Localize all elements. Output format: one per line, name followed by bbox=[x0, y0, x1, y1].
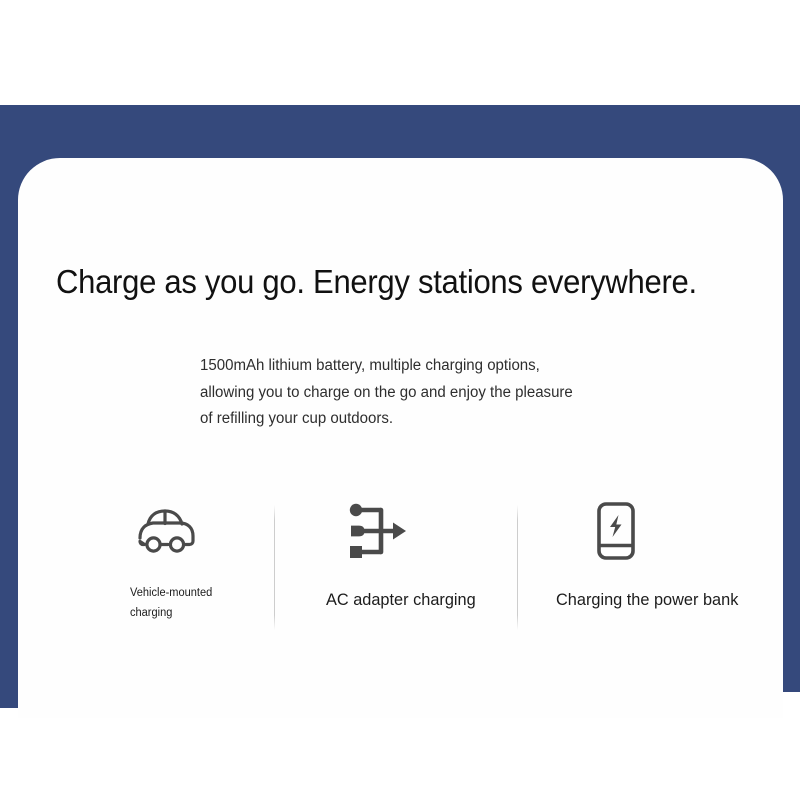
car-icon-container bbox=[113, 488, 273, 574]
description-line-2: allowing you to charge on the go and enj… bbox=[200, 380, 607, 407]
feature-vehicle-label-line-2: charging bbox=[130, 603, 264, 623]
feature-vehicle-mounted-charging[interactable]: Vehicle-mounted charging bbox=[113, 488, 273, 648]
lightning-bolt-icon bbox=[610, 515, 622, 537]
feature-power-bank-label: Charging the power bank bbox=[556, 590, 783, 610]
power-bank-icon bbox=[592, 500, 640, 562]
description-paragraph: 1500mAh lithium battery, multiple chargi… bbox=[200, 353, 607, 433]
car-icon bbox=[135, 506, 199, 556]
content-card: Charge as you go. Energy stations everyw… bbox=[18, 158, 783, 718]
frame-bottom-left-notch bbox=[0, 692, 18, 708]
feature-divider-2 bbox=[517, 505, 518, 630]
power-bank-icon-container bbox=[540, 488, 780, 574]
feature-ac-label: AC adapter charging bbox=[326, 590, 532, 610]
description-line-3: of refilling your cup outdoors. bbox=[200, 406, 607, 433]
feature-list: Vehicle-mounted charging bbox=[18, 488, 783, 648]
page-title: Charge as you go. Energy stations everyw… bbox=[56, 263, 714, 301]
usb-plug-icon bbox=[345, 502, 407, 560]
feature-vehicle-label-line-1: Vehicle-mounted bbox=[130, 583, 264, 603]
feature-ac-adapter-charging[interactable]: AC adapter charging bbox=[303, 488, 518, 648]
feature-divider-1 bbox=[274, 505, 275, 630]
product-feature-slide: Charge as you go. Energy stations everyw… bbox=[0, 0, 800, 800]
feature-vehicle-label: Vehicle-mounted charging bbox=[130, 583, 264, 623]
arrow-head bbox=[393, 523, 406, 540]
description-line-1: 1500mAh lithium battery, multiple chargi… bbox=[200, 353, 607, 380]
feature-power-bank-charging[interactable]: Charging the power bank bbox=[540, 488, 780, 648]
usb-plug-icon-container bbox=[303, 488, 518, 574]
